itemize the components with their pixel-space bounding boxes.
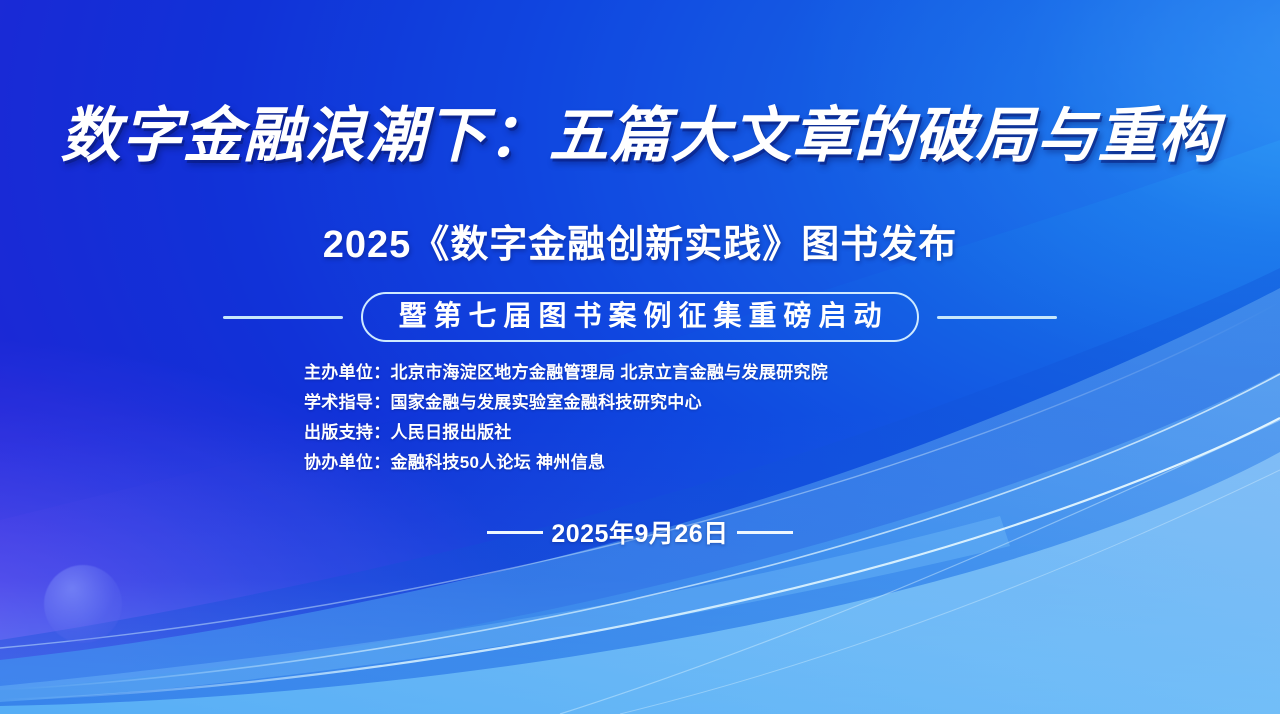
right-rule: [937, 316, 1057, 319]
sub-title: 2025《数字金融创新实践》图书发布: [0, 213, 1280, 268]
organization-list: 主办单位：北京市海淀区地方金融管理局 北京立言金融与发展研究院 学术指导：国家金…: [0, 358, 1280, 478]
main-title: 数字金融浪潮下：五篇大文章的破局与重构: [0, 104, 1280, 169]
organization-line-host: 主办单位：北京市海淀区地方金融管理局 北京立言金融与发展研究院: [304, 358, 976, 388]
organization-line-publisher: 出版支持：人民日报出版社: [304, 418, 976, 448]
date-left-rule: [487, 531, 543, 534]
event-date: 2025年9月26日: [551, 514, 728, 550]
left-rule: [223, 316, 343, 319]
date-right-rule: [737, 531, 793, 534]
highlight-row: 暨第七届图书案例征集重磅启动: [0, 292, 1280, 342]
banner-content: 数字金融浪潮下：五篇大文章的破局与重构 2025《数字金融创新实践》图书发布 暨…: [0, 0, 1280, 714]
organization-line-academic: 学术指导：国家金融与发展实验室金融科技研究中心: [304, 388, 976, 418]
organization-line-coorganizer: 协办单位：金融科技50人论坛 神州信息: [304, 448, 976, 478]
date-row: 2025年9月26日: [0, 514, 1280, 550]
highlight-pill: 暨第七届图书案例征集重磅启动: [361, 292, 918, 342]
event-banner: 数字金融浪潮下：五篇大文章的破局与重构 2025《数字金融创新实践》图书发布 暨…: [0, 0, 1280, 714]
